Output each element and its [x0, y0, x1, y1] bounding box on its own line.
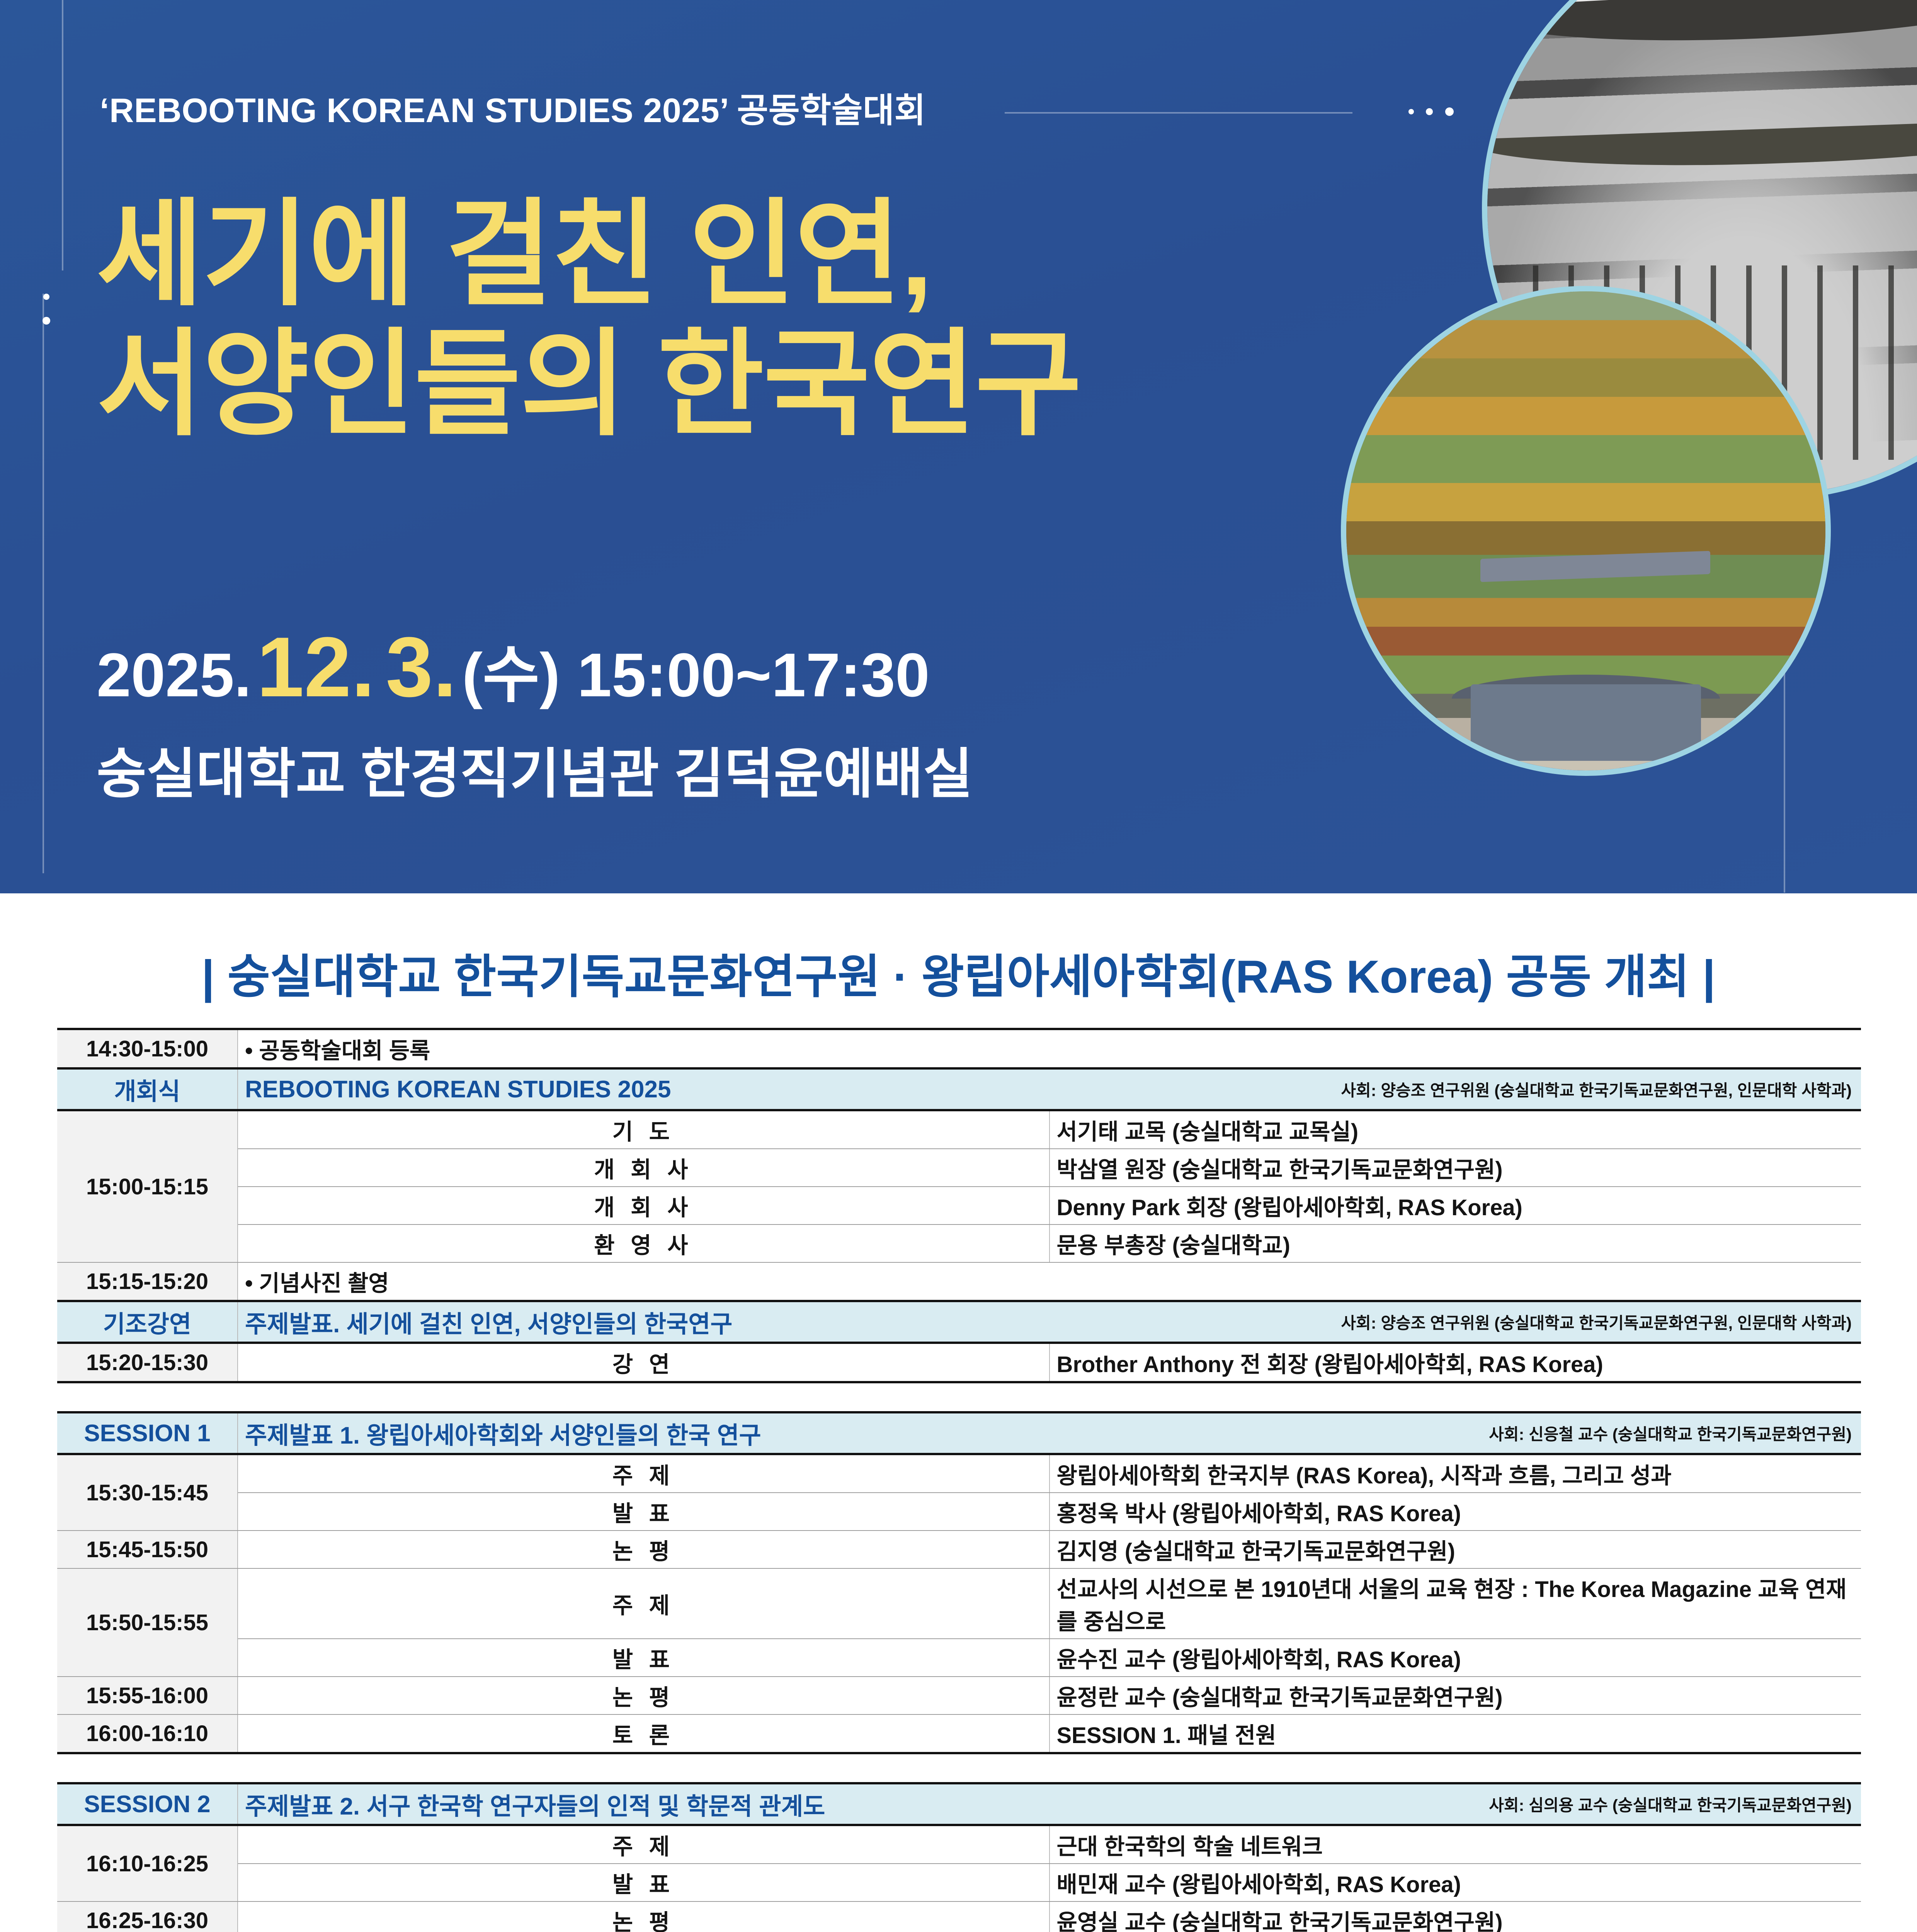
event-kicker: ‘REBOOTING KOREAN STUDIES 2025’ 공동학술대회 — [100, 83, 926, 132]
session-label: 개회식 — [57, 1068, 238, 1110]
conference-poster: ‘REBOOTING KOREAN STUDIES 2025’ 공동학술대회 세… — [0, 0, 1917, 1932]
date-time: (수) 15:00~17:30 — [462, 625, 930, 714]
time-slot: 14:30-15:00 — [57, 1029, 238, 1068]
session-moderator: 사회: 신응철 교수 (숭실대학교 한국기독교문화연구원) — [1489, 1422, 1852, 1445]
role-label: 개 회 사 — [238, 1149, 1050, 1187]
session-title: REBOOTING KOREAN STUDIES 2025사회: 양승조 연구위… — [238, 1068, 1861, 1110]
agenda-text: 윤영실 교수 (숭실대학교 한국기독교문화연구원) — [1050, 1901, 1861, 1932]
session-moderator: 사회: 양승조 연구위원 (숭실대학교 한국기독교문화연구원, 인문대학 사학과… — [1341, 1310, 1852, 1334]
session-label: 기조강연 — [57, 1301, 238, 1343]
time-slot: 16:00-16:10 — [57, 1714, 238, 1753]
role-label: 발 표 — [238, 1493, 1050, 1531]
table-row: 15:45-15:50논 평김지영 (숭실대학교 한국기독교문화연구원) — [57, 1531, 1861, 1568]
schedule-block-1: 14:30-15:00• 공동학술대회 등록개회식REBOOTING KOREA… — [57, 1028, 1861, 1383]
agenda-text: 서기태 교목 (숭실대학교 교목실) — [1050, 1110, 1861, 1149]
role-label: 개 회 사 — [238, 1187, 1050, 1225]
agenda-text: 문용 부총장 (숭실대학교) — [1050, 1225, 1861, 1262]
session-title: 주제발표 1. 왕립아세아학회와 서양인들의 한국 연구사회: 신응철 교수 (… — [238, 1412, 1861, 1454]
decorative-line-top — [1005, 112, 1352, 114]
session-moderator: 사회: 양승조 연구위원 (숭실대학교 한국기독교문화연구원, 인문대학 사학과… — [1341, 1078, 1852, 1101]
time-slot: 16:25-16:30 — [57, 1901, 238, 1932]
role-label: 주 제 — [238, 1568, 1050, 1639]
table-row: 개회식REBOOTING KOREAN STUDIES 2025사회: 양승조 … — [57, 1068, 1861, 1110]
agenda-text: Brother Anthony 전 회장 (왕립아세아학회, RAS Korea… — [1050, 1343, 1861, 1382]
table-row: 기조강연주제발표. 세기에 걸친 인연, 서양인들의 한국연구사회: 양승조 연… — [57, 1301, 1861, 1343]
cohost-subtitle: | 숭실대학교 한국기독교문화연구원 · 왕립아세아학회(RAS Korea) … — [0, 939, 1917, 1006]
agenda-text: 근대 한국학의 학술 네트워크 — [1050, 1825, 1861, 1864]
table-row: 15:20-15:30강 연Brother Anthony 전 회장 (왕립아세… — [57, 1343, 1861, 1382]
agenda-text: 윤정란 교수 (숭실대학교 한국기독교문화연구원) — [1050, 1677, 1861, 1714]
page-title: 세기에 걸친 인연, 서양인들의 한국연구 — [97, 189, 1081, 449]
table-row: 15:50-15:55주 제선교사의 시선으로 본 1910년대 서울의 교육 … — [57, 1568, 1861, 1639]
table-row: 개 회 사박삼열 원장 (숭실대학교 한국기독교문화연구원) — [57, 1149, 1861, 1187]
role-label: 논 평 — [238, 1901, 1050, 1932]
table-row: SESSION 1주제발표 1. 왕립아세아학회와 서양인들의 한국 연구사회:… — [57, 1412, 1861, 1454]
date-month: 12. — [257, 618, 375, 716]
agenda-text: • 공동학술대회 등록 — [238, 1029, 1861, 1068]
agenda-text: 선교사의 시선으로 본 1910년대 서울의 교육 현장 : The Korea… — [1050, 1568, 1861, 1639]
role-label: 환 영 사 — [238, 1225, 1050, 1262]
table-row: 16:10-16:25주 제근대 한국학의 학술 네트워크 — [57, 1825, 1861, 1864]
table-row: 발 표윤수진 교수 (왕립아세아학회, RAS Korea) — [57, 1639, 1861, 1677]
table-row: 15:55-16:00논 평윤정란 교수 (숭실대학교 한국기독교문화연구원) — [57, 1677, 1861, 1714]
decorative-dot-5 — [43, 317, 50, 325]
table-row: SESSION 2주제발표 2. 서구 한국학 연구자들의 인적 및 학문적 관… — [57, 1783, 1861, 1825]
agenda-text: 왕립아세아학회 한국지부 (RAS Korea), 시작과 흐름, 그리고 성과 — [1050, 1454, 1861, 1493]
agenda-text: Denny Park 회장 (왕립아세아학회, RAS Korea) — [1050, 1187, 1861, 1225]
schedule-block-session-2: SESSION 2주제발표 2. 서구 한국학 연구자들의 인적 및 학문적 관… — [57, 1782, 1861, 1932]
table-row: 14:30-15:00• 공동학술대회 등록 — [57, 1029, 1861, 1068]
session-label: SESSION 1 — [57, 1412, 238, 1454]
role-label: 논 평 — [238, 1677, 1050, 1714]
session-label: SESSION 2 — [57, 1783, 238, 1825]
table-row: 16:25-16:30논 평윤영실 교수 (숭실대학교 한국기독교문화연구원) — [57, 1901, 1861, 1932]
table-row: 15:30-15:45주 제왕립아세아학회 한국지부 (RAS Korea), … — [57, 1454, 1861, 1493]
decorative-line-left — [62, 0, 63, 270]
date-day: 3. — [386, 618, 456, 716]
event-date-row: 2025. 12. 3. (수) 15:00~17:30 — [97, 618, 930, 716]
decorative-line-left-2 — [43, 294, 44, 873]
time-slot: 15:55-16:00 — [57, 1677, 238, 1714]
session-title: 주제발표 2. 서구 한국학 연구자들의 인적 및 학문적 관계도사회: 심의용… — [238, 1783, 1861, 1825]
table-row: 발 표홍정욱 박사 (왕립아세아학회, RAS Korea) — [57, 1493, 1861, 1531]
session-moderator: 사회: 심의용 교수 (숭실대학교 한국기독교문화연구원) — [1489, 1793, 1852, 1816]
time-slot: 15:30-15:45 — [57, 1454, 238, 1531]
agenda-text: 박삼열 원장 (숭실대학교 한국기독교문화연구원) — [1050, 1149, 1861, 1187]
time-slot: 15:50-15:55 — [57, 1568, 238, 1677]
role-label: 기 도 — [238, 1110, 1050, 1149]
agenda-text: 홍정욱 박사 (왕립아세아학회, RAS Korea) — [1050, 1493, 1861, 1531]
time-slot: 15:20-15:30 — [57, 1343, 238, 1382]
decorative-dot-2 — [1426, 108, 1433, 115]
time-slot: 16:10-16:25 — [57, 1825, 238, 1901]
table-row: 16:00-16:10토 론SESSION 1. 패널 전원 — [57, 1714, 1861, 1753]
role-label: 발 표 — [238, 1639, 1050, 1677]
agenda-text: 김지영 (숭실대학교 한국기독교문화연구원) — [1050, 1531, 1861, 1568]
table-row: 15:15-15:20• 기념사진 촬영 — [57, 1262, 1861, 1301]
role-label: 발 표 — [238, 1864, 1050, 1901]
agenda-text: • 기념사진 촬영 — [238, 1262, 1861, 1301]
table-row: 개 회 사Denny Park 회장 (왕립아세아학회, RAS Korea) — [57, 1187, 1861, 1225]
time-slot: 15:15-15:20 — [57, 1262, 238, 1301]
decorative-dot-4 — [43, 294, 49, 300]
time-slot: 15:00-15:15 — [57, 1110, 238, 1262]
venue-text: 숭실대학교 한경직기념관 김덕윤예배실 — [97, 730, 973, 808]
role-label: 주 제 — [238, 1825, 1050, 1864]
role-label: 논 평 — [238, 1531, 1050, 1568]
role-label: 주 제 — [238, 1454, 1050, 1493]
session-title: 주제발표. 세기에 걸친 인연, 서양인들의 한국연구사회: 양승조 연구위원 … — [238, 1301, 1861, 1343]
date-year: 2025. — [97, 639, 251, 711]
table-row: 환 영 사문용 부총장 (숭실대학교) — [57, 1225, 1861, 1262]
table-row: 발 표배민재 교수 (왕립아세아학회, RAS Korea) — [57, 1864, 1861, 1901]
time-slot: 15:45-15:50 — [57, 1531, 238, 1568]
agenda-text: 배민재 교수 (왕립아세아학회, RAS Korea) — [1050, 1864, 1861, 1901]
agenda-text: 윤수진 교수 (왕립아세아학회, RAS Korea) — [1050, 1639, 1861, 1677]
schedule-container: 14:30-15:00• 공동학술대회 등록개회식REBOOTING KOREA… — [57, 1028, 1861, 1932]
schedule-block-session-1: SESSION 1주제발표 1. 왕립아세아학회와 서양인들의 한국 연구사회:… — [57, 1411, 1861, 1754]
decorative-dot-3 — [1445, 107, 1454, 116]
role-label: 토 론 — [238, 1714, 1050, 1753]
role-label: 강 연 — [238, 1343, 1050, 1382]
agenda-text: SESSION 1. 패널 전원 — [1050, 1714, 1861, 1753]
hero-header: ‘REBOOTING KOREAN STUDIES 2025’ 공동학술대회 세… — [0, 0, 1917, 893]
autumn-palace-landscape-photo — [1341, 286, 1831, 776]
decorative-dot-1 — [1408, 109, 1414, 114]
table-row: 15:00-15:15기 도서기태 교목 (숭실대학교 교목실) — [57, 1110, 1861, 1149]
